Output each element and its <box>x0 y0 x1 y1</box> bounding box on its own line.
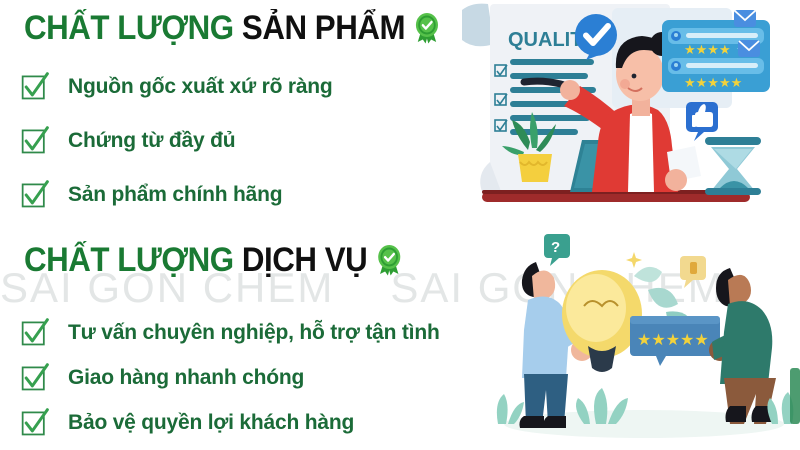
svg-text:?: ? <box>551 239 560 256</box>
list-item: Sản phẩm chính hãng <box>20 168 333 222</box>
card-stars: ★★★★★ <box>637 330 709 349</box>
svg-text:★★★★: ★★★★ <box>684 43 731 58</box>
heading-dark-text: DỊCH VỤ <box>242 243 367 277</box>
review-cards-panel: ★★★★ ★ ★★★★★ <box>662 10 770 92</box>
infographic-canvas: SAI GON CHEM SAI GON CHEM CHẤT LƯỢNG SẢN… <box>0 0 800 450</box>
hand-2 <box>665 169 687 191</box>
star-rating-2: ★★★★★ <box>684 76 742 91</box>
eye <box>632 74 637 79</box>
section-heading-service-quality: CHẤT LƯỢNG DỊCH VỤ <box>24 243 403 277</box>
list-item: Giao hàng nhanh chóng <box>20 355 440 400</box>
man-shoe <box>520 416 545 428</box>
list-item-label: Tư vấn chuyên nghiệp, hỗ trợ tận tình <box>68 321 440 345</box>
heading-dark-text: SẢN PHẨM <box>242 11 405 45</box>
envelope-icon <box>738 40 760 57</box>
checkbox-checked-icon <box>20 180 50 210</box>
section-heading-product-quality: CHẤT LƯỢNG SẢN PHẨM <box>24 11 441 45</box>
thumbs-up-icon <box>686 102 718 141</box>
list-item: Tư vấn chuyên nghiệp, hỗ trợ tận tình <box>20 310 440 355</box>
edge-accent-bar <box>790 368 800 424</box>
svg-text:★★★★★: ★★★★★ <box>684 76 742 91</box>
quality-checklist-illustration: QUALITY <box>462 2 800 222</box>
award-check-badge-icon <box>376 244 404 276</box>
hand <box>560 80 580 100</box>
list-item-label: Bảo vệ quyền lợi khách hàng <box>68 411 354 435</box>
woman-handing-rating <box>709 268 776 424</box>
checkbox-checked-icon <box>20 363 50 393</box>
checkbox-checked-icon <box>20 126 50 156</box>
feature-list-service-quality: Tư vấn chuyên nghiệp, hỗ trợ tận tình Gi… <box>20 310 440 445</box>
content-column: CHẤT LƯỢNG SẢN PHẨM Nguồn gốc xuất xứ rõ… <box>0 0 470 450</box>
list-item-label: Giao hàng nhanh chóng <box>68 366 304 390</box>
envelope-icon <box>734 10 756 27</box>
hourglass <box>705 137 761 195</box>
list-item: Bảo vệ quyền lợi khách hàng <box>20 400 440 445</box>
checkbox-checked-icon <box>20 318 50 348</box>
list-item-label: Nguồn gốc xuất xứ rõ ràng <box>68 75 333 99</box>
blush <box>620 79 630 89</box>
list-item-label: Sản phẩm chính hãng <box>68 183 282 207</box>
woman-boot <box>726 406 747 422</box>
five-star-rating-card: ★★★★★ <box>630 316 720 366</box>
list-item: Nguồn gốc xuất xứ rõ ràng <box>20 60 333 114</box>
list-item: Chứng từ đầy đủ <box>20 114 333 168</box>
heading-green-text: CHẤT LƯỢNG <box>24 11 234 45</box>
checkbox-checked-icon <box>20 72 50 102</box>
list-item-label: Chứng từ đầy đủ <box>68 129 235 153</box>
question-mark-bubble-icon: ? <box>544 234 570 266</box>
idea-note-icon <box>680 256 706 288</box>
service-quality-illustration: ? ★★★★★ <box>484 228 800 450</box>
heading-green-text: CHẤT LƯỢNG <box>24 243 234 277</box>
shirt <box>628 112 654 192</box>
award-check-badge-icon <box>413 12 441 44</box>
man-shoe <box>544 416 567 428</box>
woman-dress <box>720 301 772 384</box>
man-face <box>532 270 555 300</box>
feature-list-product-quality: Nguồn gốc xuất xứ rõ ràng Chứng từ đầy đ… <box>20 60 333 222</box>
checkbox-checked-icon <box>20 408 50 438</box>
